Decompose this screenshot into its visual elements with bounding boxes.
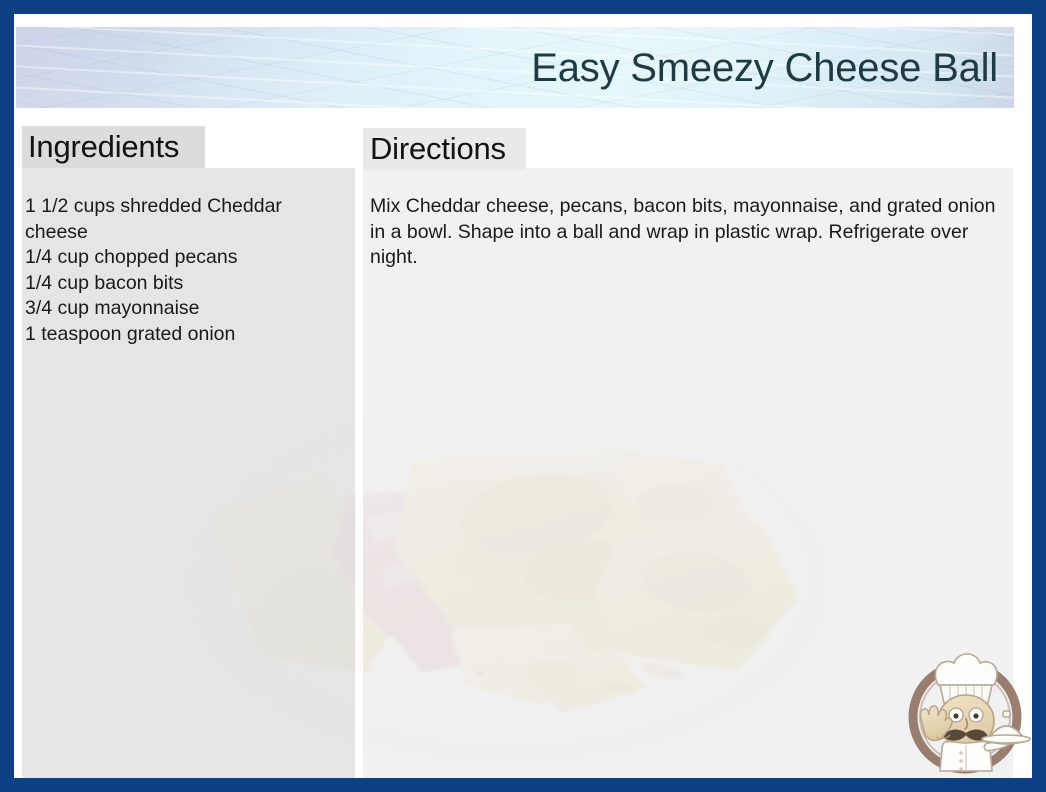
ingredients-heading-tab: Ingredients <box>22 126 205 168</box>
directions-heading-tab: Directions <box>363 128 526 170</box>
column-divider <box>355 168 363 779</box>
slide-border-bottom <box>0 778 1046 792</box>
chef-logo-icon <box>898 645 1032 779</box>
slide-border-right <box>1032 0 1046 792</box>
ingredients-heading-label: Ingredients <box>28 129 179 164</box>
ingredients-panel: 1 1/2 cups shredded Cheddar cheese 1/4 c… <box>22 168 355 779</box>
slide-border-top <box>0 0 1046 14</box>
recipe-slide: Easy Smeezy Cheese Ball 1 1/2 cups shred… <box>0 0 1046 792</box>
slide-border-left <box>0 0 14 792</box>
ingredients-list: 1 1/2 cups shredded Cheddar cheese 1/4 c… <box>25 194 341 347</box>
title-banner: Easy Smeezy Cheese Ball <box>16 27 1014 108</box>
page-title: Easy Smeezy Cheese Ball <box>531 47 998 89</box>
directions-text: Mix Cheddar cheese, pecans, bacon bits, … <box>370 194 1004 271</box>
directions-heading-label: Directions <box>370 131 506 166</box>
